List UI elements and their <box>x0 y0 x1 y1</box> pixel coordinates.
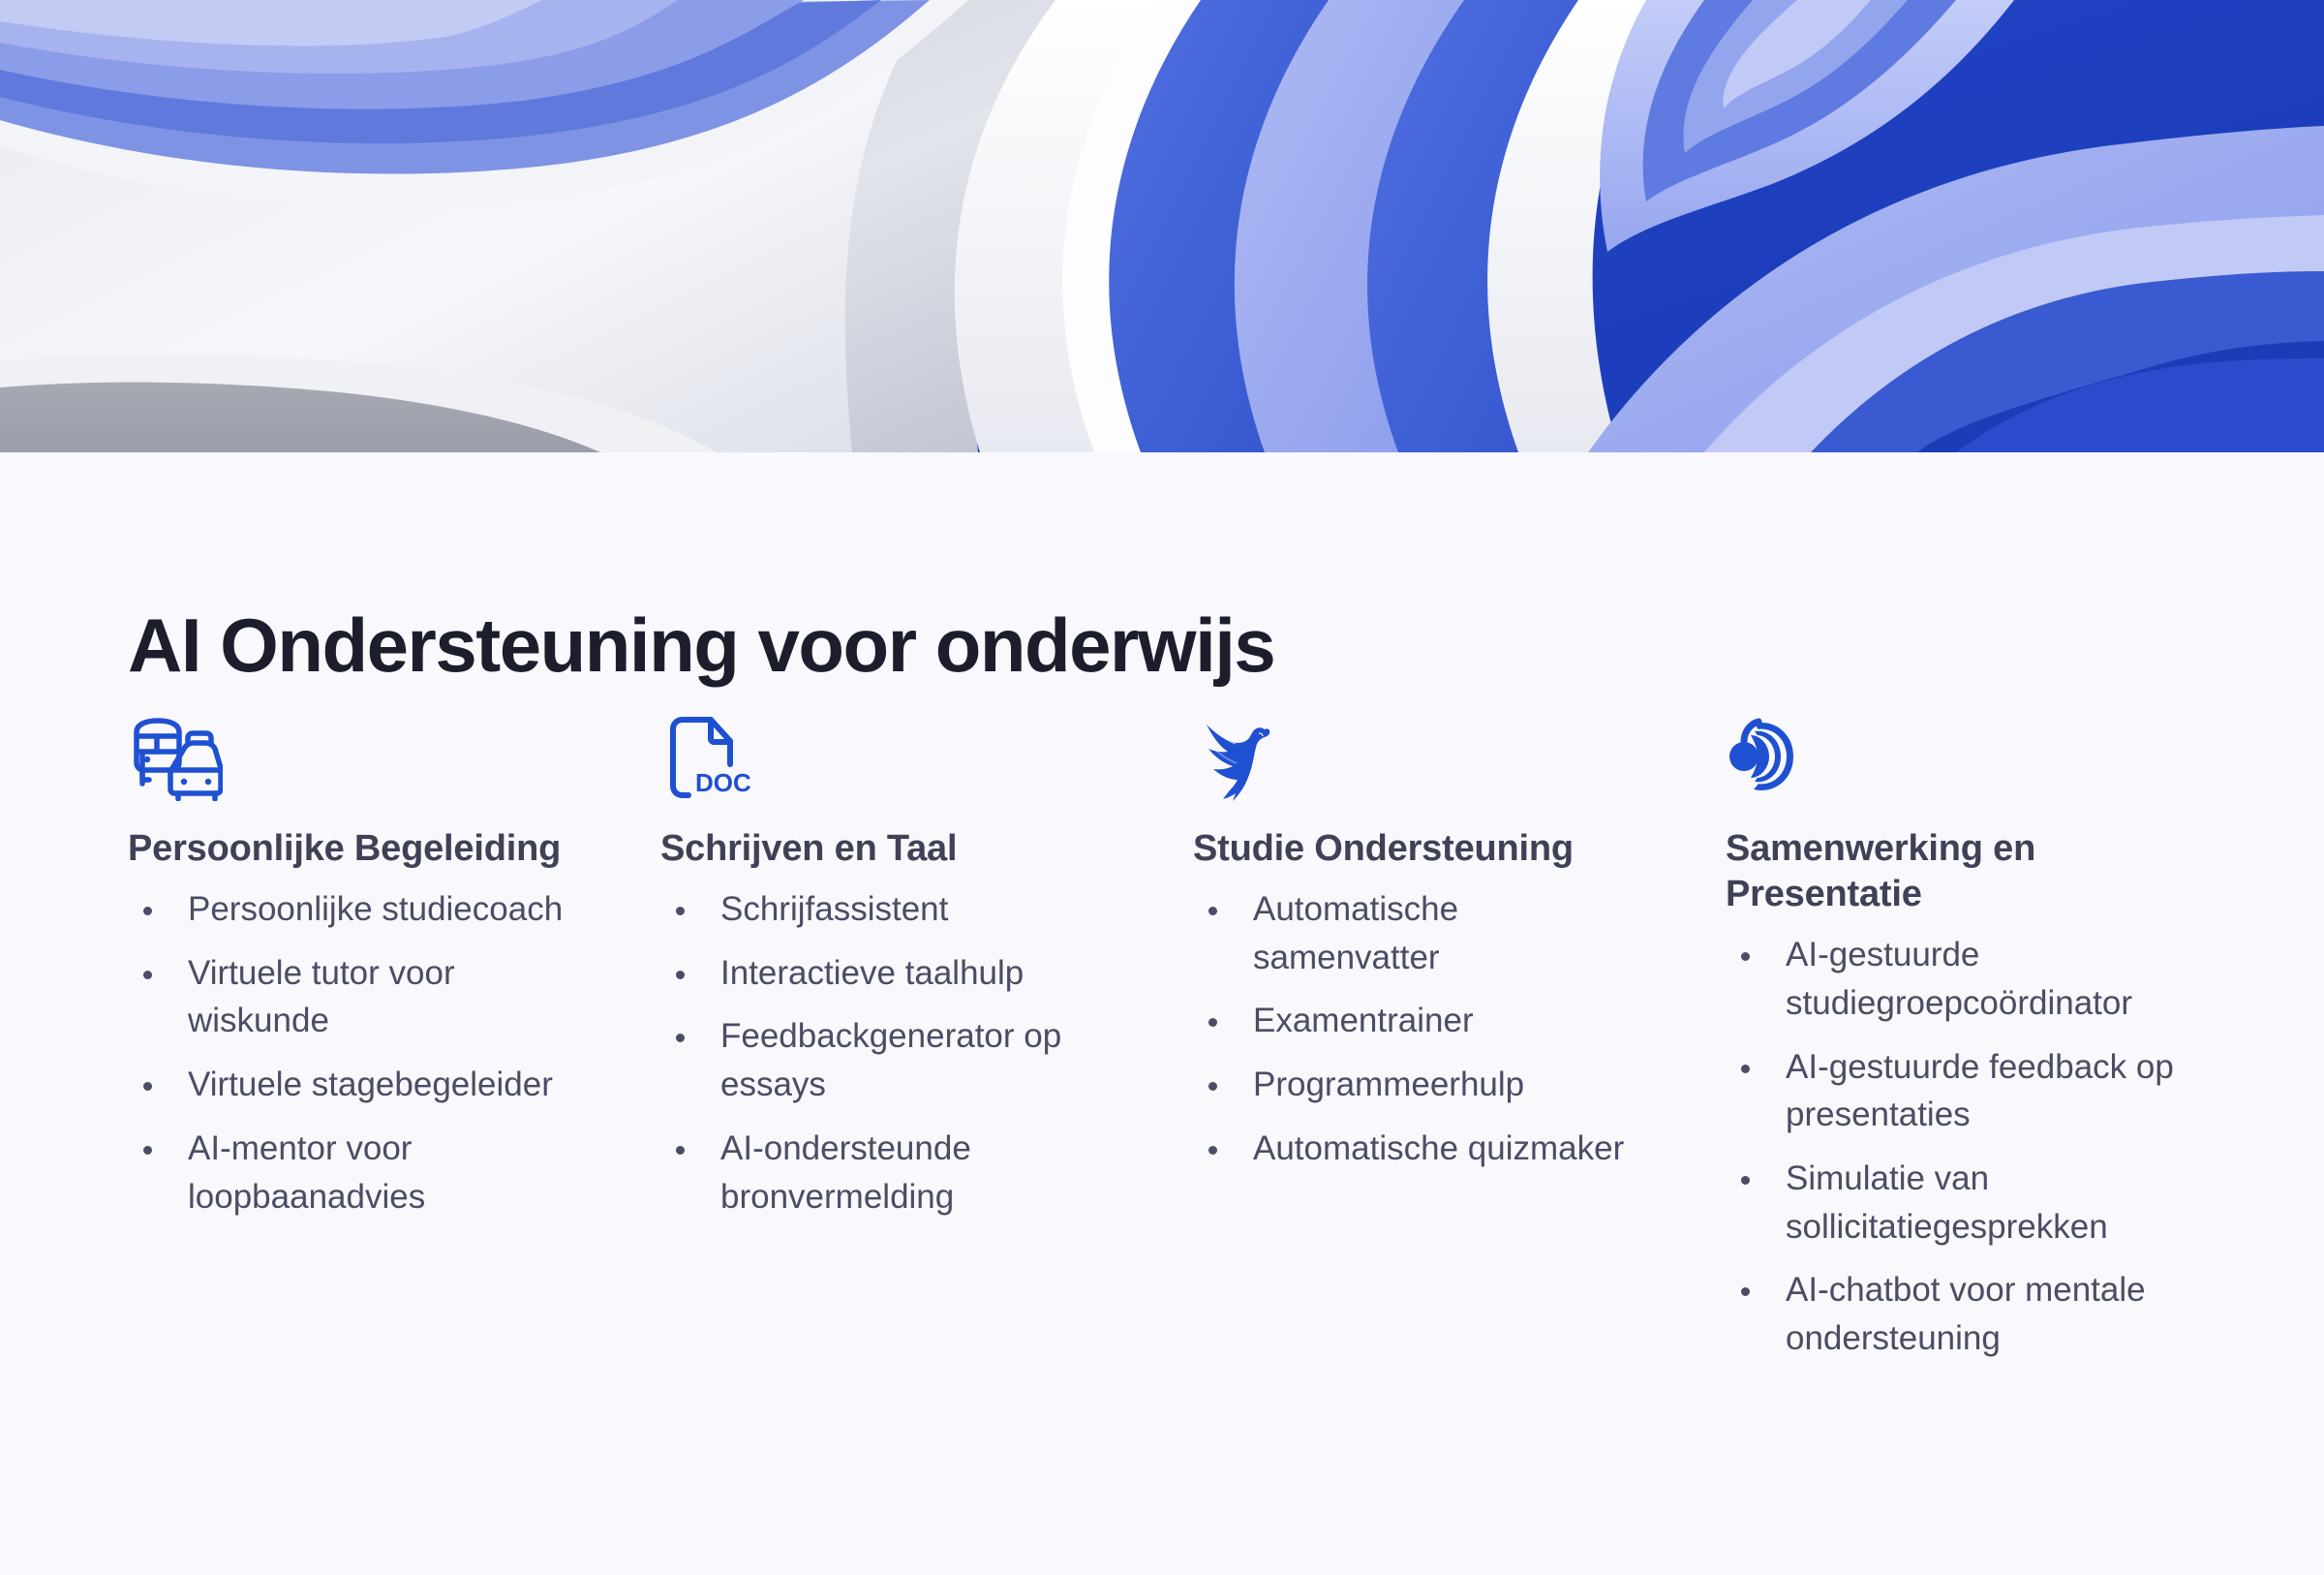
feature-column-persoonlijke-begeleiding: Persoonlijke Begeleiding Persoonlijke st… <box>128 714 660 1378</box>
column-list: Automatische samenvatter Examentrainer P… <box>1193 885 1644 1172</box>
list-item: Simulatie van sollicitatiegesprekken <box>1726 1155 2239 1251</box>
list-item: AI-chatbot voor mentale ondersteuning <box>1726 1266 2239 1362</box>
list-item: AI-mentor voor loopbaanadvies <box>128 1125 579 1220</box>
column-heading: Samenwerking en Presentatie <box>1726 826 2239 917</box>
feature-columns: Persoonlijke Begeleiding Persoonlijke st… <box>128 714 2258 1378</box>
list-item: Automatische samenvatter <box>1193 885 1644 981</box>
feature-column-samenwerking-en-presentatie: Samenwerking en Presentatie AI-gestuurde… <box>1726 714 2258 1378</box>
list-item: Schrijfassistent <box>660 885 1112 934</box>
hero-banner-image <box>0 0 2324 452</box>
list-item: Persoonlijke studiecoach <box>128 885 579 934</box>
svg-text:DOC: DOC <box>695 768 751 797</box>
page-title: AI Ondersteuning voor onderwijs <box>128 602 1274 690</box>
column-heading: Schrijven en Taal <box>660 826 1112 872</box>
list-item: Virtuele tutor voor wiskunde <box>128 949 579 1045</box>
feature-column-schrijven-en-taal: DOC Schrijven en Taal Schrijfassistent I… <box>660 714 1193 1378</box>
column-list: Schrijfassistent Interactieve taalhulp F… <box>660 885 1112 1220</box>
list-item: Programmeerhulp <box>1193 1061 1644 1109</box>
column-list: Persoonlijke studiecoach Virtuele tutor … <box>128 885 579 1220</box>
column-list: AI-gestuurde studiegroepcoördinator AI-g… <box>1726 931 2239 1363</box>
list-item: Interactieve taalhulp <box>660 949 1112 998</box>
list-item: AI-ondersteunde bronvermelding <box>660 1125 1112 1220</box>
column-heading: Persoonlijke Begeleiding <box>128 826 579 872</box>
list-item: AI-gestuurde feedback op presentaties <box>1726 1043 2239 1139</box>
content-area: AI Ondersteuning voor onderwijs <box>0 452 2324 1575</box>
profile-faces-icon <box>1726 714 1820 801</box>
bus-taxi-icon <box>128 714 223 801</box>
list-item: AI-gestuurde studiegroepcoördinator <box>1726 931 2239 1027</box>
list-item: Feedbackgenerator op essays <box>660 1012 1112 1108</box>
list-item: Examentrainer <box>1193 997 1644 1045</box>
hero-wave-graphic <box>0 0 2324 452</box>
column-heading: Studie Ondersteuning <box>1193 826 1644 872</box>
list-item: Virtuele stagebegeleider <box>128 1061 579 1109</box>
feature-column-studie-ondersteuning: Studie Ondersteuning Automatische samenv… <box>1193 714 1726 1378</box>
slide-page: AI Ondersteuning voor onderwijs <box>0 0 2324 1575</box>
doc-file-icon: DOC <box>660 714 755 801</box>
flying-bird-icon <box>1193 714 1288 801</box>
list-item: Automatische quizmaker <box>1193 1125 1644 1173</box>
